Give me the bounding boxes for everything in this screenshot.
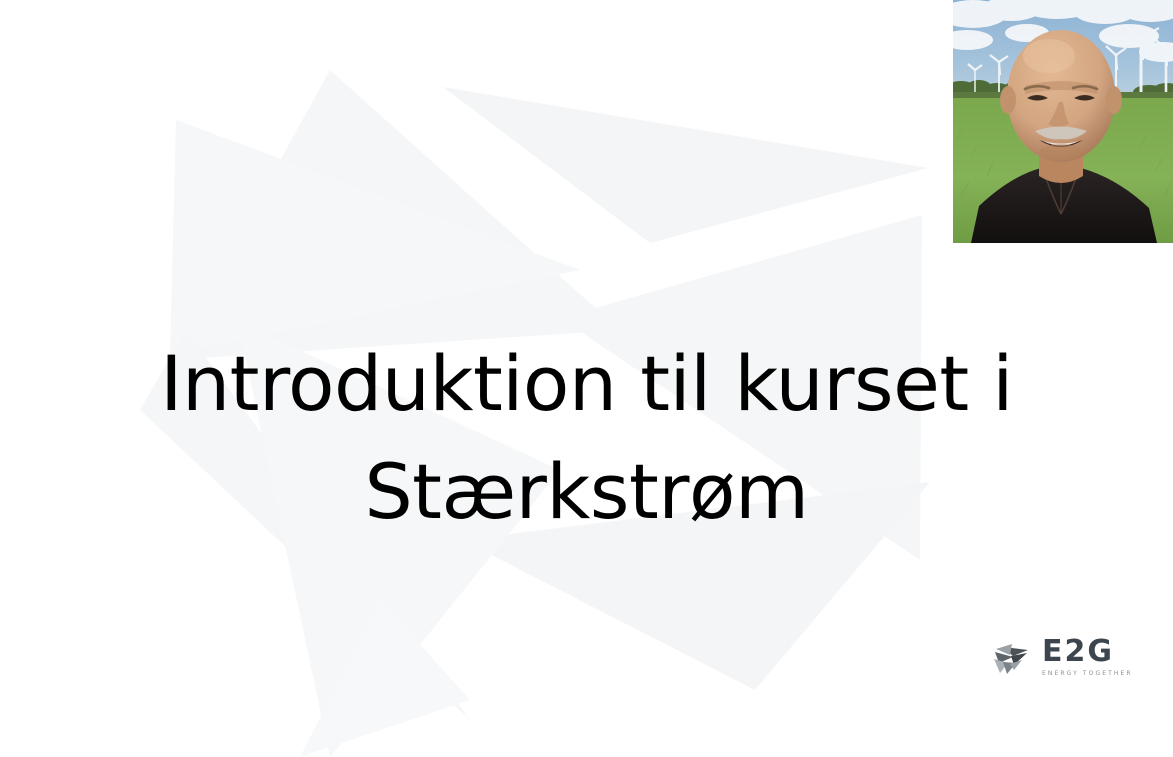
watermark-triangle-bottom-sliver: [300, 600, 470, 757]
title-line-1: Introduktion til kurset i: [0, 330, 1173, 438]
brand-wordmark: E2G ENERGY TOGETHER: [1042, 637, 1133, 678]
title-line-2: Stærkstrøm: [0, 438, 1173, 546]
brand-logo: E2G ENERGY TOGETHER: [986, 630, 1131, 685]
photo-forehead-highlight: [1023, 39, 1075, 73]
slide-title: Introduktion til kurset i Stærkstrøm: [0, 330, 1173, 546]
watermark-triangle-upper-wing: [443, 87, 928, 243]
photo-ear-right: [1106, 86, 1122, 114]
photo-chin-shadow: [1039, 144, 1083, 160]
watermark-triangle-left-fin: [170, 120, 580, 355]
presenter-photo: [953, 0, 1173, 243]
watermark-triangle-body: [170, 70, 620, 360]
brand-name: E2G: [1042, 637, 1133, 667]
photo-ear-left: [1000, 86, 1016, 114]
presentation-slide: Introduktion til kurset i Stærkstrøm: [0, 0, 1173, 757]
brand-tagline: ENERGY TOGETHER: [1042, 670, 1133, 678]
e2g-arrow-mark-icon: [986, 635, 1032, 681]
